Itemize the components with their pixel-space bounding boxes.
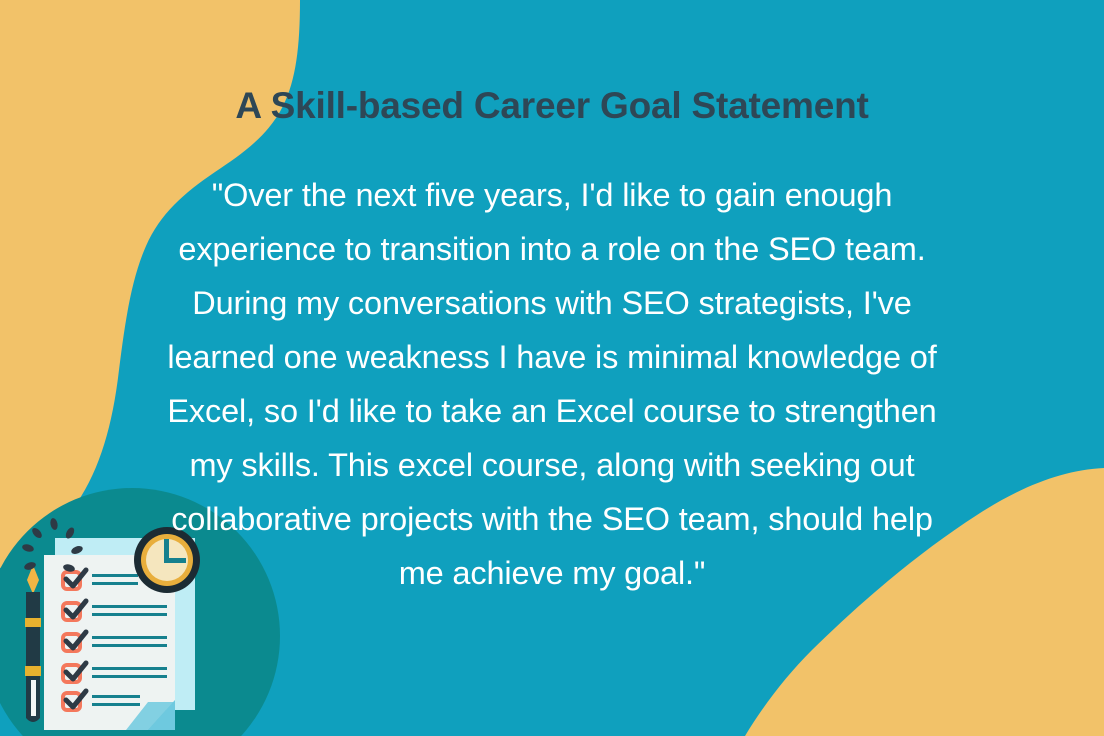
quote-line: "Over the next five years, I'd like to g… <box>102 168 1002 222</box>
goal-statement-quote: "Over the next five years, I'd like to g… <box>102 168 1002 600</box>
quote-line: me achieve my goal." <box>102 546 1002 600</box>
goal-statement-card: A Skill-based Career Goal Statement "Ove… <box>0 0 1104 736</box>
quote-line: Excel, so I'd like to take an Excel cour… <box>102 384 1002 438</box>
quote-line: collaborative projects with the SEO team… <box>102 492 1002 546</box>
quote-line: my skills. This excel course, along with… <box>102 438 1002 492</box>
page-title: A Skill-based Career Goal Statement <box>0 86 1104 127</box>
quote-line: During my conversations with SEO strateg… <box>102 276 1002 330</box>
quote-line: experience to transition into a role on … <box>102 222 1002 276</box>
quote-line: learned one weakness I have is minimal k… <box>102 330 1002 384</box>
